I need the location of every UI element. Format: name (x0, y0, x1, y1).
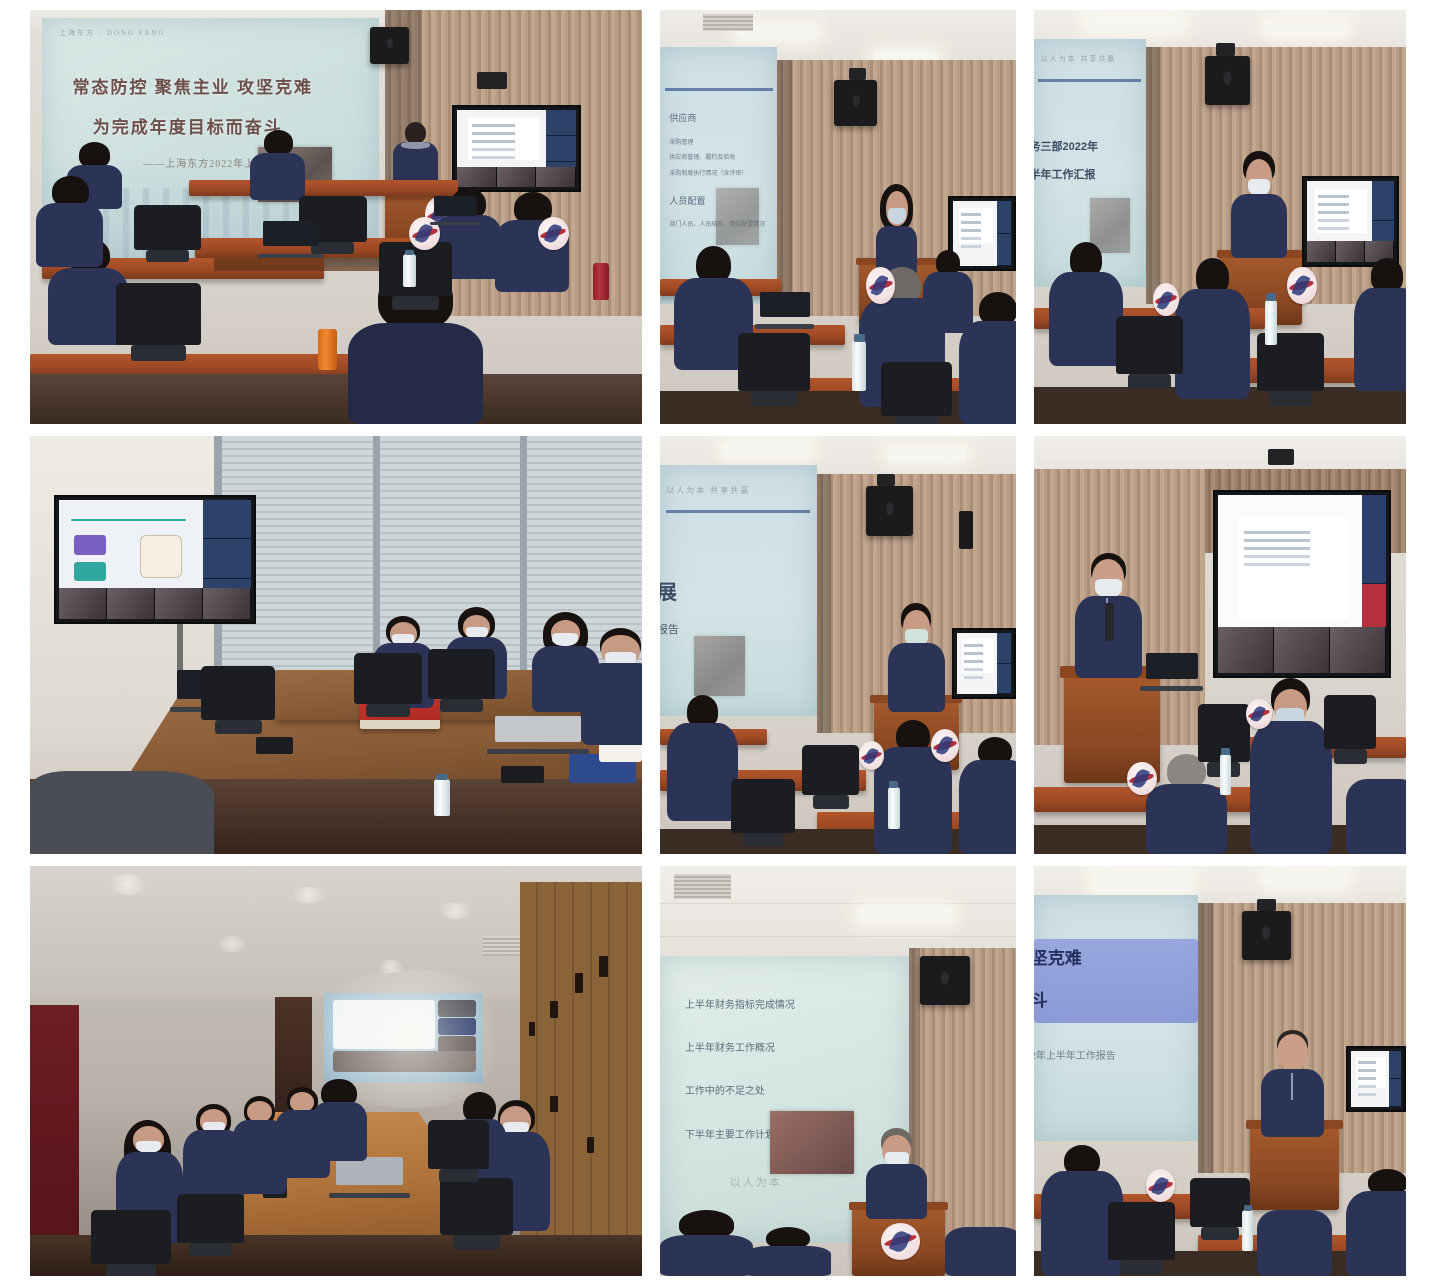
slide-footer-8: 以人为本 (730, 1174, 782, 1190)
cabinet-handle-7d (599, 956, 608, 977)
monitor-tiles-9 (1389, 1051, 1401, 1107)
chair-7d (428, 1120, 489, 1169)
attendee-torso-2d (923, 272, 973, 333)
laptop-lid-1a (263, 221, 318, 246)
laptop-lid-4b (495, 716, 581, 742)
ceiling-projector-2 (849, 68, 867, 80)
ceiling-downlight-7c (434, 903, 477, 919)
chair-4b (354, 653, 421, 703)
photo-panel-5[interactable]: 以人为本 共享共赢 展 报告 (660, 436, 1016, 854)
ceiling-projector-5 (877, 474, 895, 487)
thermos-red-1 (593, 263, 609, 300)
ceiling-light-5a (724, 444, 809, 457)
photo-panel-6[interactable] (1034, 436, 1406, 854)
wall-tv-6[interactable] (1213, 490, 1392, 678)
ceiling-vent-2 (703, 14, 753, 31)
water-bottle-6 (1220, 754, 1231, 796)
tv-screen-6 (1218, 495, 1387, 673)
chair-3a (1116, 316, 1183, 374)
wall-shadow-2 (777, 60, 791, 317)
slide-body-2a: 采购管理 (669, 137, 693, 146)
slide-title-3b: 半年工作汇报 (1034, 166, 1096, 182)
presenter-torso-3 (1231, 194, 1287, 259)
chair-6b (1324, 695, 1376, 749)
laptop-lid-7 (336, 1157, 403, 1185)
tv-title-rule-4 (71, 519, 186, 521)
monitor-tiles-2 (997, 201, 1011, 266)
laptop-base-7 (329, 1193, 410, 1198)
conference-mic-4 (256, 737, 293, 754)
laptop-2 (760, 292, 810, 329)
attendee-torso-1g (36, 203, 103, 267)
chair-logo-icon-2 (866, 267, 894, 304)
side-monitor-9[interactable] (1346, 1046, 1406, 1112)
attendee-hair-1g (52, 176, 88, 207)
chair-5a (731, 779, 795, 833)
presenter-8 (866, 1128, 927, 1218)
presenter-mask-2 (888, 208, 906, 224)
chair-1a (134, 205, 201, 251)
laptop-7 (336, 1157, 403, 1198)
wall-tv-1[interactable] (452, 105, 581, 192)
photo-panel-9[interactable]: 坚克难 斗 2年上半年工作报告 (1034, 866, 1406, 1276)
attendee-9b (1346, 1169, 1406, 1276)
photo-collage: 上海东方 · DONG FANG 常态防控 聚焦主业 攻坚克难 为完成年度目标而… (0, 0, 1454, 1280)
attendee-torso-1b (250, 153, 305, 201)
ceiling-projector-3 (1216, 43, 1235, 55)
speaker-collar-1 (401, 142, 430, 148)
bottle-cap-4 (436, 774, 448, 780)
photo-panel-7[interactable] (30, 866, 642, 1276)
side-monitor-3[interactable] (1302, 176, 1399, 267)
bottle-cap-5 (889, 781, 898, 788)
tv-chip-4a (74, 535, 106, 554)
chair-logo-icon-6b (1246, 699, 1272, 728)
ceiling-downlight-7d (214, 936, 251, 952)
chair-7c (440, 1178, 513, 1235)
attendee-6c (1346, 779, 1406, 854)
attendee-torso-3c (1354, 288, 1406, 391)
photo-panel-4[interactable] (30, 436, 642, 854)
door-7a[interactable] (30, 1005, 79, 1243)
tv-screen-1 (457, 110, 576, 187)
bottle-cap-1a (405, 250, 414, 255)
conference-mic-4b (501, 766, 544, 783)
chair-9b (1190, 1178, 1250, 1227)
water-bottle-3 (1265, 300, 1278, 346)
attendee-torso-5b (874, 747, 952, 854)
slide-title-3a: 务三部2022年 (1034, 138, 1098, 154)
attendee-hair-1b (264, 130, 294, 155)
podium-logo-icon-8 (881, 1223, 920, 1260)
speaker-at-podium-1 (391, 122, 440, 188)
attendee-torso-8c (945, 1227, 1016, 1276)
tv-document-6 (1238, 517, 1348, 620)
attendee-torso-5a (667, 723, 738, 821)
window-mullion-4b (520, 436, 527, 704)
monitor-tiles-5 (997, 633, 1011, 694)
slide-subtitle-fragment-5: 报告 (660, 621, 679, 637)
attendee-3c (1354, 258, 1406, 390)
chair-1d (116, 283, 202, 345)
monitor-document-9 (1356, 1057, 1386, 1088)
slide-heading-2b: 人员配置 (669, 194, 705, 207)
chair-5b (802, 745, 859, 795)
presenter-5 (888, 603, 945, 712)
attendee-head-7c (247, 1101, 271, 1123)
slide-heading-2: 供应商 (669, 111, 696, 124)
tv-chip-4b (74, 562, 106, 581)
tv-screen-4 (59, 500, 251, 620)
attendee-1b (250, 130, 305, 200)
attendee-3a (1049, 242, 1123, 366)
slide-thumbnail-2 (716, 188, 758, 244)
monitor-document-2 (959, 208, 994, 243)
laptop-1a (263, 221, 318, 258)
attendee-torso-3b (1175, 289, 1249, 399)
chair-2a (738, 333, 809, 391)
attendee-torso-9c (1257, 1210, 1331, 1276)
leader-lanyard-9 (1291, 1073, 1293, 1101)
ceiling-grid-8b (660, 936, 1016, 937)
female-presenter-2 (874, 184, 920, 275)
wall-camera-5 (959, 511, 973, 549)
ceiling-downlight-7a (103, 874, 152, 895)
ceiling-vent-8 (674, 874, 731, 899)
cabinet-handle-7c (529, 1022, 535, 1036)
laptop-lid-1b (434, 196, 477, 216)
attendee-1g (36, 176, 103, 267)
attendee-torso-4e (30, 771, 214, 854)
wall-speaker-9 (1242, 911, 1290, 960)
attendee-3b (1175, 258, 1249, 399)
slide-title-9a: 坚克难 (1034, 944, 1082, 969)
attendee-torso-6b (1146, 784, 1228, 854)
laptop-lid-6 (1146, 653, 1198, 679)
slide-header-5: 以人为本 共享共赢 (666, 485, 750, 496)
cabinet-handle-7f (587, 1137, 594, 1153)
monitor-document-3 (1315, 189, 1367, 234)
bottle-cap-3 (1266, 293, 1276, 300)
slide-bullet-8d: 下半年主要工作计划 (685, 1126, 775, 1141)
slide-subtitle-9: 2年上半年工作报告 (1034, 1047, 1116, 1062)
wall-shadow-3 (1146, 47, 1161, 304)
laptop-base-6 (1140, 686, 1202, 691)
chair-4c (428, 649, 495, 699)
laptop-base-2 (755, 324, 815, 328)
photo-panel-1[interactable]: 上海东方 · DONG FANG 常态防控 聚焦主业 攻坚克难 为完成年度目标而… (30, 10, 642, 424)
photo-panel-8[interactable]: 上半年财务指标完成情况 上半年财务工作概况 工作中的不足之处 下半年主要工作计划… (660, 866, 1016, 1276)
cabinet-handle-7e (550, 1096, 557, 1112)
chair-2b (881, 362, 952, 416)
monitor-shared-5 (957, 633, 998, 694)
laptop-base-4b (487, 749, 590, 754)
attendee-torso-8a (660, 1235, 753, 1276)
attendee-mask-4c (552, 633, 578, 646)
attendee-7e (312, 1079, 367, 1161)
bottle-cap-9 (1244, 1205, 1252, 1212)
tv-bottom-tiles-6 (1218, 627, 1387, 673)
projection-screen-5: 以人为本 共享共赢 展 报告 (660, 465, 817, 716)
desk-row-1a (189, 180, 458, 197)
wall-speaker-3 (1205, 56, 1250, 106)
laptop-base-1b (430, 222, 481, 225)
thermos-orange-1 (318, 329, 338, 370)
water-bottle-1a (403, 254, 415, 287)
ceiling-light-3a (1086, 18, 1183, 30)
handheld-microphone-6 (1105, 603, 1114, 641)
attendee-torso-4d (581, 663, 642, 745)
attendee-4d (581, 628, 642, 745)
slide-thumbnail-8 (770, 1111, 855, 1174)
floor-1 (30, 374, 642, 424)
wall-speaker-5 (866, 486, 912, 536)
speaker-head-1 (405, 122, 427, 145)
attendee-torso-7e (312, 1102, 367, 1161)
water-bottle-4 (434, 779, 450, 817)
slide-title-fragment-5: 展 (660, 576, 677, 605)
leader-head-9 (1277, 1034, 1307, 1070)
attendee-torso-5c (959, 760, 1016, 854)
chair-logo-icon-3a (1287, 267, 1317, 304)
attendee-8c (945, 1227, 1016, 1276)
ceiling-grid-8a (660, 903, 1016, 904)
slide-rule-3 (1038, 79, 1141, 82)
attendee-torso-6c (1346, 779, 1406, 854)
monitor-screen-9 (1351, 1051, 1401, 1107)
water-bottle-9 (1242, 1210, 1253, 1251)
laptop-base-1a (257, 254, 323, 258)
attendee-hair-1a (79, 142, 110, 167)
slide-body-2b: 供应商管理、履约及验收 (669, 152, 735, 161)
presenter-torso-8 (866, 1164, 927, 1218)
chair-1c (379, 242, 452, 296)
chair-logo-icon-6a (1127, 762, 1157, 795)
laptop-6 (1146, 653, 1198, 691)
attendee-2d (923, 250, 973, 333)
ceiling-projector-6 (1268, 449, 1294, 466)
slide-title-9b: 斗 (1034, 986, 1048, 1011)
attendee-torso-1f (348, 323, 483, 424)
presenter-torso-5 (888, 643, 945, 711)
chair-logo-icon-5a (931, 729, 959, 762)
slide-bullet-8a: 上半年财务指标完成情况 (685, 996, 795, 1011)
tv-bottom-tiles-4 (59, 588, 251, 619)
bottle-cap-2 (854, 334, 865, 342)
projection-screen-9: 坚克难 斗 2年上半年工作报告 (1034, 895, 1198, 1141)
monitor-screen-5 (957, 633, 1011, 694)
tv-document-1 (468, 118, 539, 160)
chair-9a (1108, 1202, 1175, 1259)
ceiling-light-9a (1094, 874, 1191, 890)
wall-speaker-8 (920, 956, 970, 1005)
chair-logo-icon-1b (538, 217, 569, 250)
ceiling-projector-9 (1257, 899, 1276, 911)
ceiling-light-5b (888, 449, 966, 462)
cabinet-handle-7a (575, 973, 584, 994)
chair-4a (201, 666, 274, 720)
monitor-screen-3 (1307, 181, 1394, 262)
bottle-cap-6 (1221, 748, 1229, 755)
attendee-torso-8b (745, 1246, 830, 1276)
cabinet-handle-7b (550, 1001, 557, 1017)
wall-tv-4[interactable] (54, 495, 256, 625)
tv-bottom-tiles-1 (457, 167, 576, 187)
chair-7b (177, 1194, 244, 1243)
slide-bullet-8c: 工作中的不足之处 (685, 1082, 765, 1097)
attendee-torso-6a (1250, 721, 1332, 854)
photo-panel-3[interactable]: 以人为本 共享共赢 务三部2022年 半年工作汇报 (1034, 10, 1406, 424)
monitor-document-5 (962, 639, 994, 673)
monitor-shared-9 (1351, 1051, 1388, 1107)
ceiling-projector-1 (477, 72, 508, 89)
side-monitor-5[interactable] (952, 628, 1016, 699)
slide-logo-1: 上海东方 · DONG FANG (59, 28, 165, 38)
attendee-5a (667, 695, 738, 820)
wall-speaker-2 (834, 80, 877, 126)
attendee-torso-2c (959, 321, 1016, 424)
attendee-torso-3a (1049, 272, 1123, 366)
ceiling-light-3b (1265, 22, 1347, 34)
slide-header-3: 以人为本 共享共赢 (1041, 54, 1117, 64)
ceiling-downlight-7b (287, 887, 330, 903)
photo-panel-2[interactable]: 供应商 采购管理 供应商管理、履约及验收 采购制度执行情况（含评审） 人员配置 … (660, 10, 1016, 424)
presenter-3 (1231, 151, 1287, 259)
slide-body-2c: 采购制度执行情况（含评审） (669, 168, 747, 177)
senior-leader-9 (1261, 1030, 1324, 1137)
collage-grid: 上海东方 · DONG FANG 常态防控 聚焦主业 攻坚克难 为完成年度目标而… (30, 10, 1419, 1260)
slide-rule-5 (666, 510, 810, 513)
laptop-4b (495, 716, 581, 754)
attendee-4e-foreground (30, 762, 214, 854)
wall-shadow-9 (1198, 903, 1213, 1174)
attendee-8a-foreground (660, 1210, 753, 1276)
water-bottle-2 (852, 341, 866, 391)
tv-cylinder-4 (140, 535, 182, 578)
water-bottle-5 (888, 787, 900, 829)
laptop-lid-2 (760, 292, 810, 317)
slide-thumbnail-5 (694, 636, 744, 696)
ceiling-light-8 (859, 907, 952, 923)
ceiling-light-9b (1265, 874, 1347, 886)
attendee-8b-foreground (745, 1227, 830, 1276)
wall-shadow-5 (817, 474, 831, 733)
laptop-1b (434, 196, 477, 225)
attendee-5c (959, 737, 1016, 854)
slide-rule-2 (665, 88, 773, 91)
wall-speaker-1 (370, 27, 410, 64)
slide-title-line-1: 常态防控 聚焦主业 攻坚克难 (73, 73, 314, 98)
attendee-torso-9b (1346, 1191, 1406, 1276)
attendee-9c (1257, 1210, 1331, 1276)
slide-bullet-8b: 上半年财务工作概况 (685, 1039, 775, 1054)
chair-7a (91, 1210, 171, 1263)
